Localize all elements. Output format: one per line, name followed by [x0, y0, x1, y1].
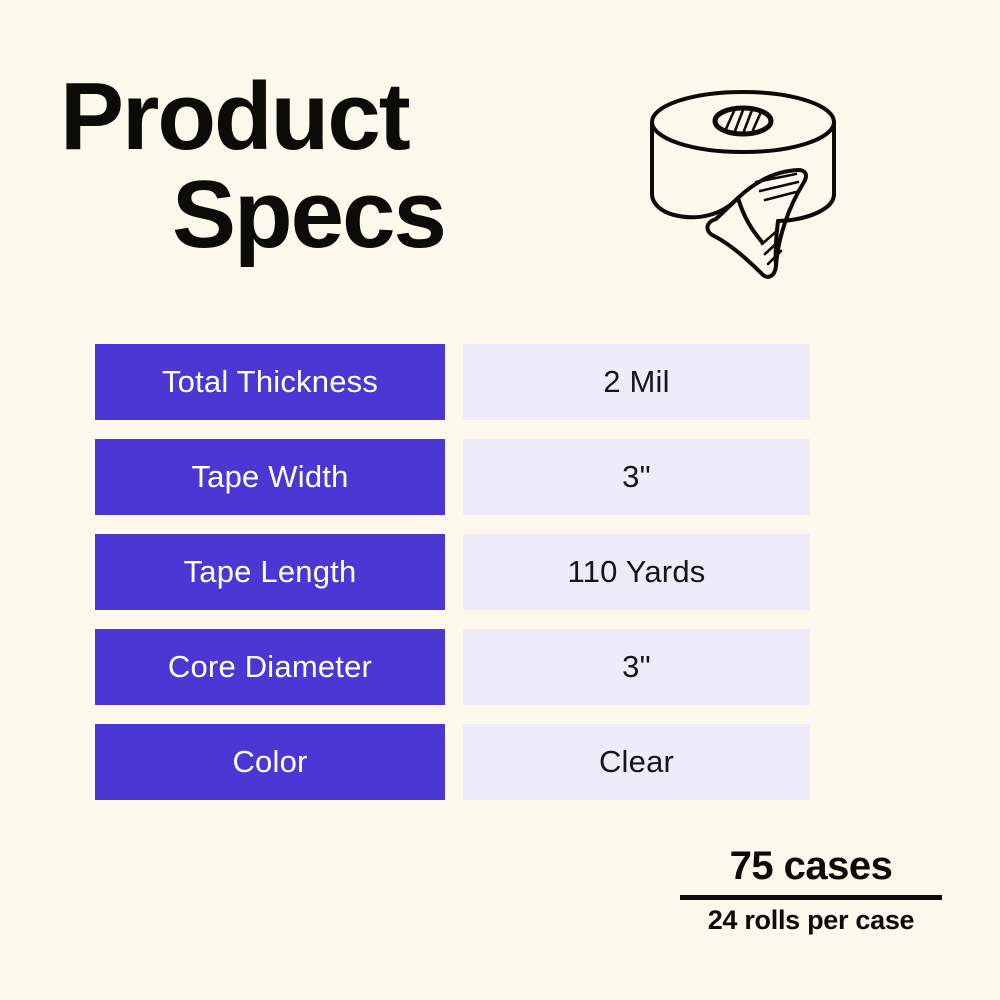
rolls-per-case: 24 rolls per case — [680, 906, 942, 936]
table-row: Core Diameter 3" — [95, 629, 810, 705]
spec-label: Core Diameter — [95, 629, 445, 705]
table-row: Tape Length 110 Yards — [95, 534, 810, 610]
spec-label: Color — [95, 724, 445, 800]
spec-label: Tape Length — [95, 534, 445, 610]
page-title-line-2: Specs — [60, 166, 620, 264]
spec-value: 3" — [463, 629, 810, 705]
table-row: Color Clear — [95, 724, 810, 800]
spec-value: 3" — [463, 439, 810, 515]
spec-value: 2 Mil — [463, 344, 810, 420]
table-row: Tape Width 3" — [95, 439, 810, 515]
table-row: Total Thickness 2 Mil — [95, 344, 810, 420]
case-quantity-block: 75 cases 24 rolls per case — [680, 845, 942, 936]
product-specs-card: Product Specs — [0, 0, 1000, 1000]
spec-label: Total Thickness — [95, 344, 445, 420]
spec-label: Tape Width — [95, 439, 445, 515]
spec-table: Total Thickness 2 Mil Tape Width 3" Tape… — [95, 344, 810, 800]
page-title: Product Specs — [60, 68, 620, 264]
page-title-line-1: Product — [60, 68, 620, 166]
tape-roll-icon — [638, 78, 848, 293]
spec-value: 110 Yards — [463, 534, 810, 610]
divider — [680, 895, 942, 900]
spec-value: Clear — [463, 724, 810, 800]
case-count: 75 cases — [680, 845, 942, 887]
